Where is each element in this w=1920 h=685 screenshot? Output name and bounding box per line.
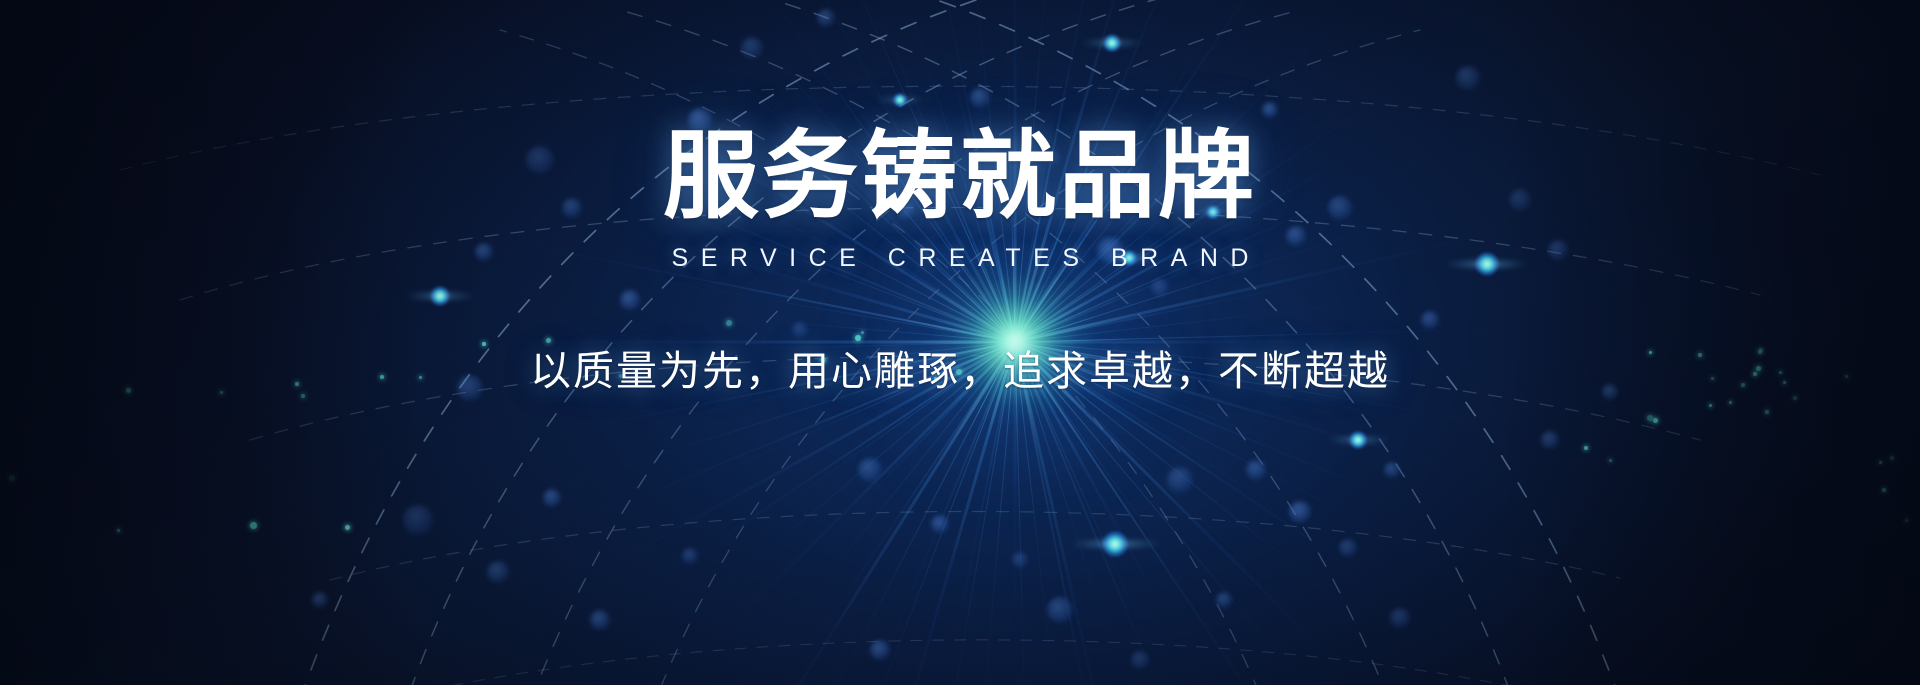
star-particle (1882, 488, 1886, 492)
banner-tagline: 以质量为先，用心雕琢，追求卓越，不断超越 (0, 337, 1920, 397)
star-particle (1879, 461, 1882, 464)
star-particle (9, 475, 15, 481)
star-particle (1609, 459, 1612, 462)
star-particle (1709, 404, 1712, 407)
star-particle (1765, 410, 1769, 414)
star-particle (1653, 418, 1658, 423)
star-particle (250, 522, 257, 529)
star-particle (1584, 446, 1588, 450)
banner-subheadline-english: SERVICE CREATES BRAND (0, 244, 1920, 273)
banner-headline: 服务铸就品牌 (0, 128, 1920, 226)
star-particle (117, 529, 120, 532)
star-particle (345, 525, 350, 530)
hero-banner: 服务铸就品牌 SERVICE CREATES BRAND 以质量为先，用心雕琢，… (0, 0, 1920, 685)
banner-copy: 服务铸就品牌 SERVICE CREATES BRAND 以质量为先，用心雕琢，… (0, 128, 1920, 397)
star-particle (1890, 456, 1894, 460)
star-particle (1905, 519, 1908, 522)
star-particle (1729, 401, 1732, 404)
